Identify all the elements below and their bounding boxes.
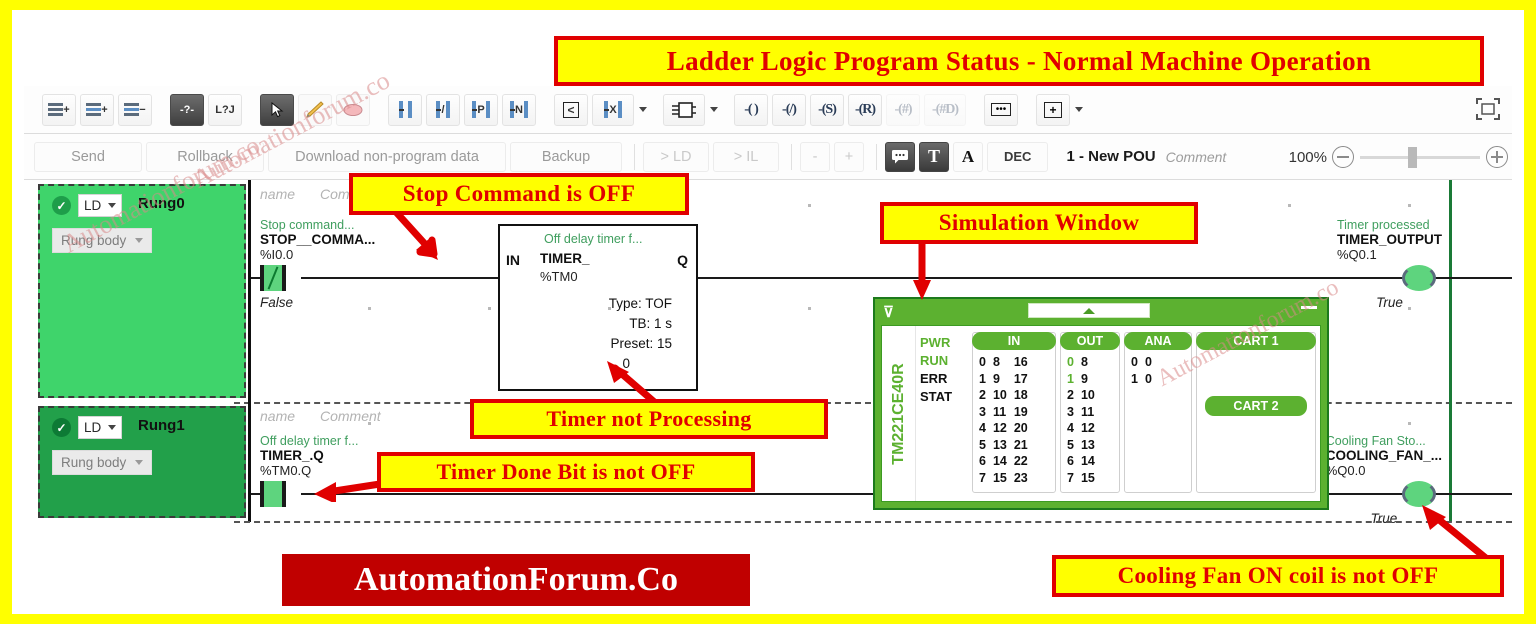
compare-block-icon[interactable]: < xyxy=(554,94,588,126)
rung-language-select[interactable]: LD xyxy=(78,194,122,217)
column-caption-cart1: CART 1 xyxy=(1196,332,1316,350)
collapse-toggle-bar[interactable] xyxy=(1028,303,1150,318)
arrow-simulation-window xyxy=(907,242,937,304)
annotation-timer-done-bit: Timer Done Bit is not OFF xyxy=(377,452,755,492)
plc-output-column[interactable]: OUT 01 23 45 67 89 1011 1213 1415 xyxy=(1060,332,1120,493)
insert-rung-below-icon[interactable]: + xyxy=(80,94,114,126)
contact-nc-glyph-icon[interactable] xyxy=(260,265,286,291)
pin-icon[interactable]: ⊽ xyxy=(883,303,894,321)
send-button[interactable]: Send xyxy=(34,142,142,172)
plc-input-column[interactable]: IN 01 23 45 67 89 1011 1213 1415 xyxy=(972,332,1056,493)
chevron-down-icon[interactable] xyxy=(108,425,116,430)
coil-comment: Timer processed xyxy=(1337,218,1442,232)
unknown-branch-icon[interactable]: L?J xyxy=(208,94,242,126)
pou-label: 1 - New POU xyxy=(1066,148,1155,165)
contact-symbol: TIMER_.Q xyxy=(260,448,358,463)
annotation-cooling-fan: Cooling Fan ON coil is not OFF xyxy=(1052,555,1504,597)
rung-body-select[interactable]: Rung body xyxy=(52,228,152,253)
contact-comment: Stop command... xyxy=(260,218,375,232)
column-header-comment: Comment xyxy=(320,408,381,424)
simulator-titlebar[interactable]: ⊽ xyxy=(875,299,1327,325)
out-group-1: 89 1011 1213 1415 xyxy=(1081,354,1095,488)
rung-language-label: LD xyxy=(84,198,101,213)
column-header-name: name xyxy=(260,408,295,424)
function-block-icon[interactable] xyxy=(663,94,705,126)
contact-glyph-icon: P xyxy=(472,101,489,118)
zoom-slider[interactable] xyxy=(1360,156,1480,159)
coil-comment: Cooling Fan Sto... xyxy=(1326,434,1442,448)
page-frame: + + − -?- L?J / P N xyxy=(0,0,1536,624)
wire-segment xyxy=(251,493,263,495)
eraser-icon xyxy=(342,101,364,119)
comment-toggle-icon[interactable] xyxy=(885,142,915,172)
in-group-1: 89 1011 1213 1415 xyxy=(993,354,1007,488)
operation-block-icon[interactable]: X xyxy=(592,94,634,126)
to-ld-button[interactable]: > LD xyxy=(643,142,709,172)
rung-language-select[interactable]: LD xyxy=(78,416,122,439)
rollback-button[interactable]: Rollback xyxy=(146,142,264,172)
plc-cartridge-column[interactable]: CART 1 CART 2 xyxy=(1196,332,1316,493)
rung-enabled-checkbox[interactable]: ✓ xyxy=(52,196,71,215)
right-power-rail xyxy=(1449,180,1452,402)
chevron-up-icon xyxy=(1083,308,1095,314)
contact-comment: Off delay timer f... xyxy=(260,434,358,448)
rung-header-panel[interactable]: ✓ LD Rung0 Rung body xyxy=(38,184,246,398)
speech-bubble-icon xyxy=(891,149,909,164)
contact-n-icon[interactable]: N xyxy=(502,94,536,126)
chevron-down-icon[interactable] xyxy=(135,238,143,243)
insert-rung-above-icon[interactable]: + xyxy=(42,94,76,126)
rung-body-label: Rung body xyxy=(61,233,126,248)
rung-lines-icon xyxy=(124,103,139,116)
coil-call-icon: -(#D) xyxy=(924,94,966,126)
contact-glyph-icon: N xyxy=(510,101,528,118)
coil-icon[interactable]: -( ) xyxy=(734,94,768,126)
plc-led-column: PWR RUN ERR STAT xyxy=(916,326,972,501)
left-power-rail xyxy=(248,402,251,522)
coil-negated-icon[interactable]: -(/) xyxy=(772,94,806,126)
block-output-pin: Q xyxy=(677,252,688,268)
pencil-icon xyxy=(304,100,326,120)
coil-state: True xyxy=(1337,295,1442,310)
zoom-in-step-button[interactable]: + xyxy=(834,142,864,172)
block-preset-line: Preset: 15 xyxy=(610,336,672,351)
rung-separator xyxy=(234,521,1512,523)
rung-body-label: Rung body xyxy=(61,455,126,470)
contact-glyph-icon xyxy=(399,101,412,118)
coil-set-icon[interactable]: -(S) xyxy=(810,94,844,126)
font-size-button[interactable]: A xyxy=(953,142,983,172)
annotation-simulation-window: Simulation Window xyxy=(880,202,1198,244)
arrow-timer-done-bit xyxy=(302,462,386,502)
column-caption-ana: ANA xyxy=(1124,332,1192,350)
backup-button[interactable]: Backup xyxy=(510,142,622,172)
add-block-icon[interactable]: + xyxy=(1036,94,1070,126)
unknown-element-icon[interactable]: -?- xyxy=(170,94,204,126)
fullscreen-icon[interactable] xyxy=(1474,96,1502,122)
symbol-toggle-icon[interactable]: T xyxy=(919,142,949,172)
in-group-0: 01 23 45 67 xyxy=(979,354,986,488)
chevron-down-icon[interactable] xyxy=(135,460,143,465)
zoom-level-label: 100% xyxy=(1289,149,1327,166)
function-block-group[interactable] xyxy=(661,94,718,126)
contact-no-glyph-icon[interactable] xyxy=(260,481,286,507)
out-group-0: 01 23 45 67 xyxy=(1067,354,1074,488)
delete-rung-icon[interactable]: − xyxy=(118,94,152,126)
fb-glyph-icon xyxy=(670,100,698,120)
column-header-name: name xyxy=(260,186,295,202)
led-run: RUN xyxy=(920,352,972,370)
coil-address: %Q0.0 xyxy=(1326,463,1442,478)
block-comment: Off delay timer f... xyxy=(544,232,642,246)
brand-banner: AutomationForum.Co xyxy=(282,554,750,606)
block-symbol: TIMER_ xyxy=(540,251,590,266)
add-block-group[interactable]: + xyxy=(1034,94,1083,126)
left-power-rail xyxy=(248,180,251,402)
coil-element[interactable]: Timer processed TIMER_OUTPUT %Q0.1 True xyxy=(1337,218,1442,310)
contact-element[interactable]: Stop command... STOP__COMMA... %I0.0 Fal… xyxy=(260,218,375,310)
cursor-arrow-icon xyxy=(271,102,284,118)
annotation-timer-not-processing: Timer not Processing xyxy=(470,399,828,439)
pointer-tool-icon[interactable] xyxy=(260,94,294,126)
contact-address: %I0.0 xyxy=(260,247,375,262)
zoom-in-icon[interactable] xyxy=(1486,146,1508,168)
coil-jump-icon: -(#) xyxy=(886,94,920,126)
arrow-stop-command xyxy=(390,208,450,278)
operation-block-group[interactable]: X xyxy=(590,94,647,126)
led-err: ERR xyxy=(920,370,972,388)
rung-name-label: Rung0 xyxy=(138,195,185,212)
to-il-button[interactable]: > IL xyxy=(713,142,779,172)
rung-lines-icon xyxy=(48,103,63,116)
contact-symbol: STOP__COMMA... xyxy=(260,232,375,247)
led-pwr: PWR xyxy=(920,334,972,352)
contact-no-icon[interactable] xyxy=(388,94,422,126)
rung-header-panel[interactable]: ✓ LD Rung1 Rung body xyxy=(38,406,246,518)
rung-name-label: Rung1 xyxy=(138,417,185,434)
simulator-body: TM221CE40R PWR RUN ERR STAT IN 01 23 45 … xyxy=(881,325,1321,502)
coil-address: %Q0.1 xyxy=(1337,247,1442,262)
ana-group-1: 00 xyxy=(1145,354,1152,488)
coil-reset-icon[interactable]: -(R) xyxy=(848,94,882,126)
column-caption-out: OUT xyxy=(1060,332,1120,350)
led-stat: STAT xyxy=(920,388,972,406)
zoom-out-step-button[interactable]: - xyxy=(800,142,830,172)
eraser-tool-icon[interactable] xyxy=(336,94,370,126)
wire-segment xyxy=(251,277,263,279)
operation-glyph-icon: X xyxy=(604,101,621,118)
ana-group-0: 01 xyxy=(1131,354,1138,488)
zoom-slider-thumb[interactable] xyxy=(1408,147,1417,168)
block-type-line: Type: TOF xyxy=(609,296,672,311)
chevron-down-icon[interactable] xyxy=(1075,107,1083,112)
block-address: %TM0 xyxy=(540,269,578,284)
block-input-pin: IN xyxy=(506,252,520,268)
block-timebase-line: TB: 1 s xyxy=(629,316,672,331)
chevron-down-icon[interactable] xyxy=(639,107,647,112)
pou-comment: Comment xyxy=(1166,149,1227,165)
coil-symbol: TIMER_OUTPUT xyxy=(1337,232,1442,247)
cartridge-2-label[interactable]: CART 2 xyxy=(1205,396,1307,416)
chevron-down-icon[interactable] xyxy=(108,203,116,208)
contact-state: False xyxy=(260,295,375,310)
contact-p-icon[interactable]: P xyxy=(464,94,498,126)
rung-enabled-checkbox[interactable]: ✓ xyxy=(52,418,71,437)
contact-glyph-icon: / xyxy=(436,101,449,118)
simulator-window[interactable]: ⊽ TM221CE40R PWR RUN ERR STAT IN 01 23 xyxy=(873,297,1329,510)
minimize-icon[interactable] xyxy=(1301,306,1317,309)
pencil-tool-icon[interactable] xyxy=(298,94,332,126)
annotation-stop-command: Stop Command is OFF xyxy=(349,173,689,215)
plc-analog-column[interactable]: ANA 01 00 xyxy=(1124,332,1192,493)
zoom-out-icon[interactable] xyxy=(1332,146,1354,168)
ellipsis-block-icon[interactable]: ••• xyxy=(984,94,1018,126)
dec-format-button[interactable]: DEC xyxy=(987,142,1048,172)
rung-body-select[interactable]: Rung body xyxy=(52,450,152,475)
download-non-program-data-button[interactable]: Download non-program data xyxy=(268,142,506,172)
annotation-title: Ladder Logic Program Status - Normal Mac… xyxy=(554,36,1484,86)
ladder-editor-toolbar: + + − -?- L?J / P N xyxy=(24,86,1512,134)
contact-nc-icon[interactable]: / xyxy=(426,94,460,126)
zoom-control: 100% xyxy=(1289,134,1508,180)
coil-symbol: COOLING_FAN_... xyxy=(1326,448,1442,463)
chevron-down-icon[interactable] xyxy=(710,107,718,112)
in-group-2: 1617 1819 2021 2223 xyxy=(1014,354,1028,488)
rung-language-label: LD xyxy=(84,420,101,435)
column-caption-in: IN xyxy=(972,332,1056,350)
coil-glyph-icon[interactable] xyxy=(1402,265,1436,291)
plc-model-label: TM221CE40R xyxy=(882,326,916,501)
rung-lines-icon xyxy=(86,103,101,116)
